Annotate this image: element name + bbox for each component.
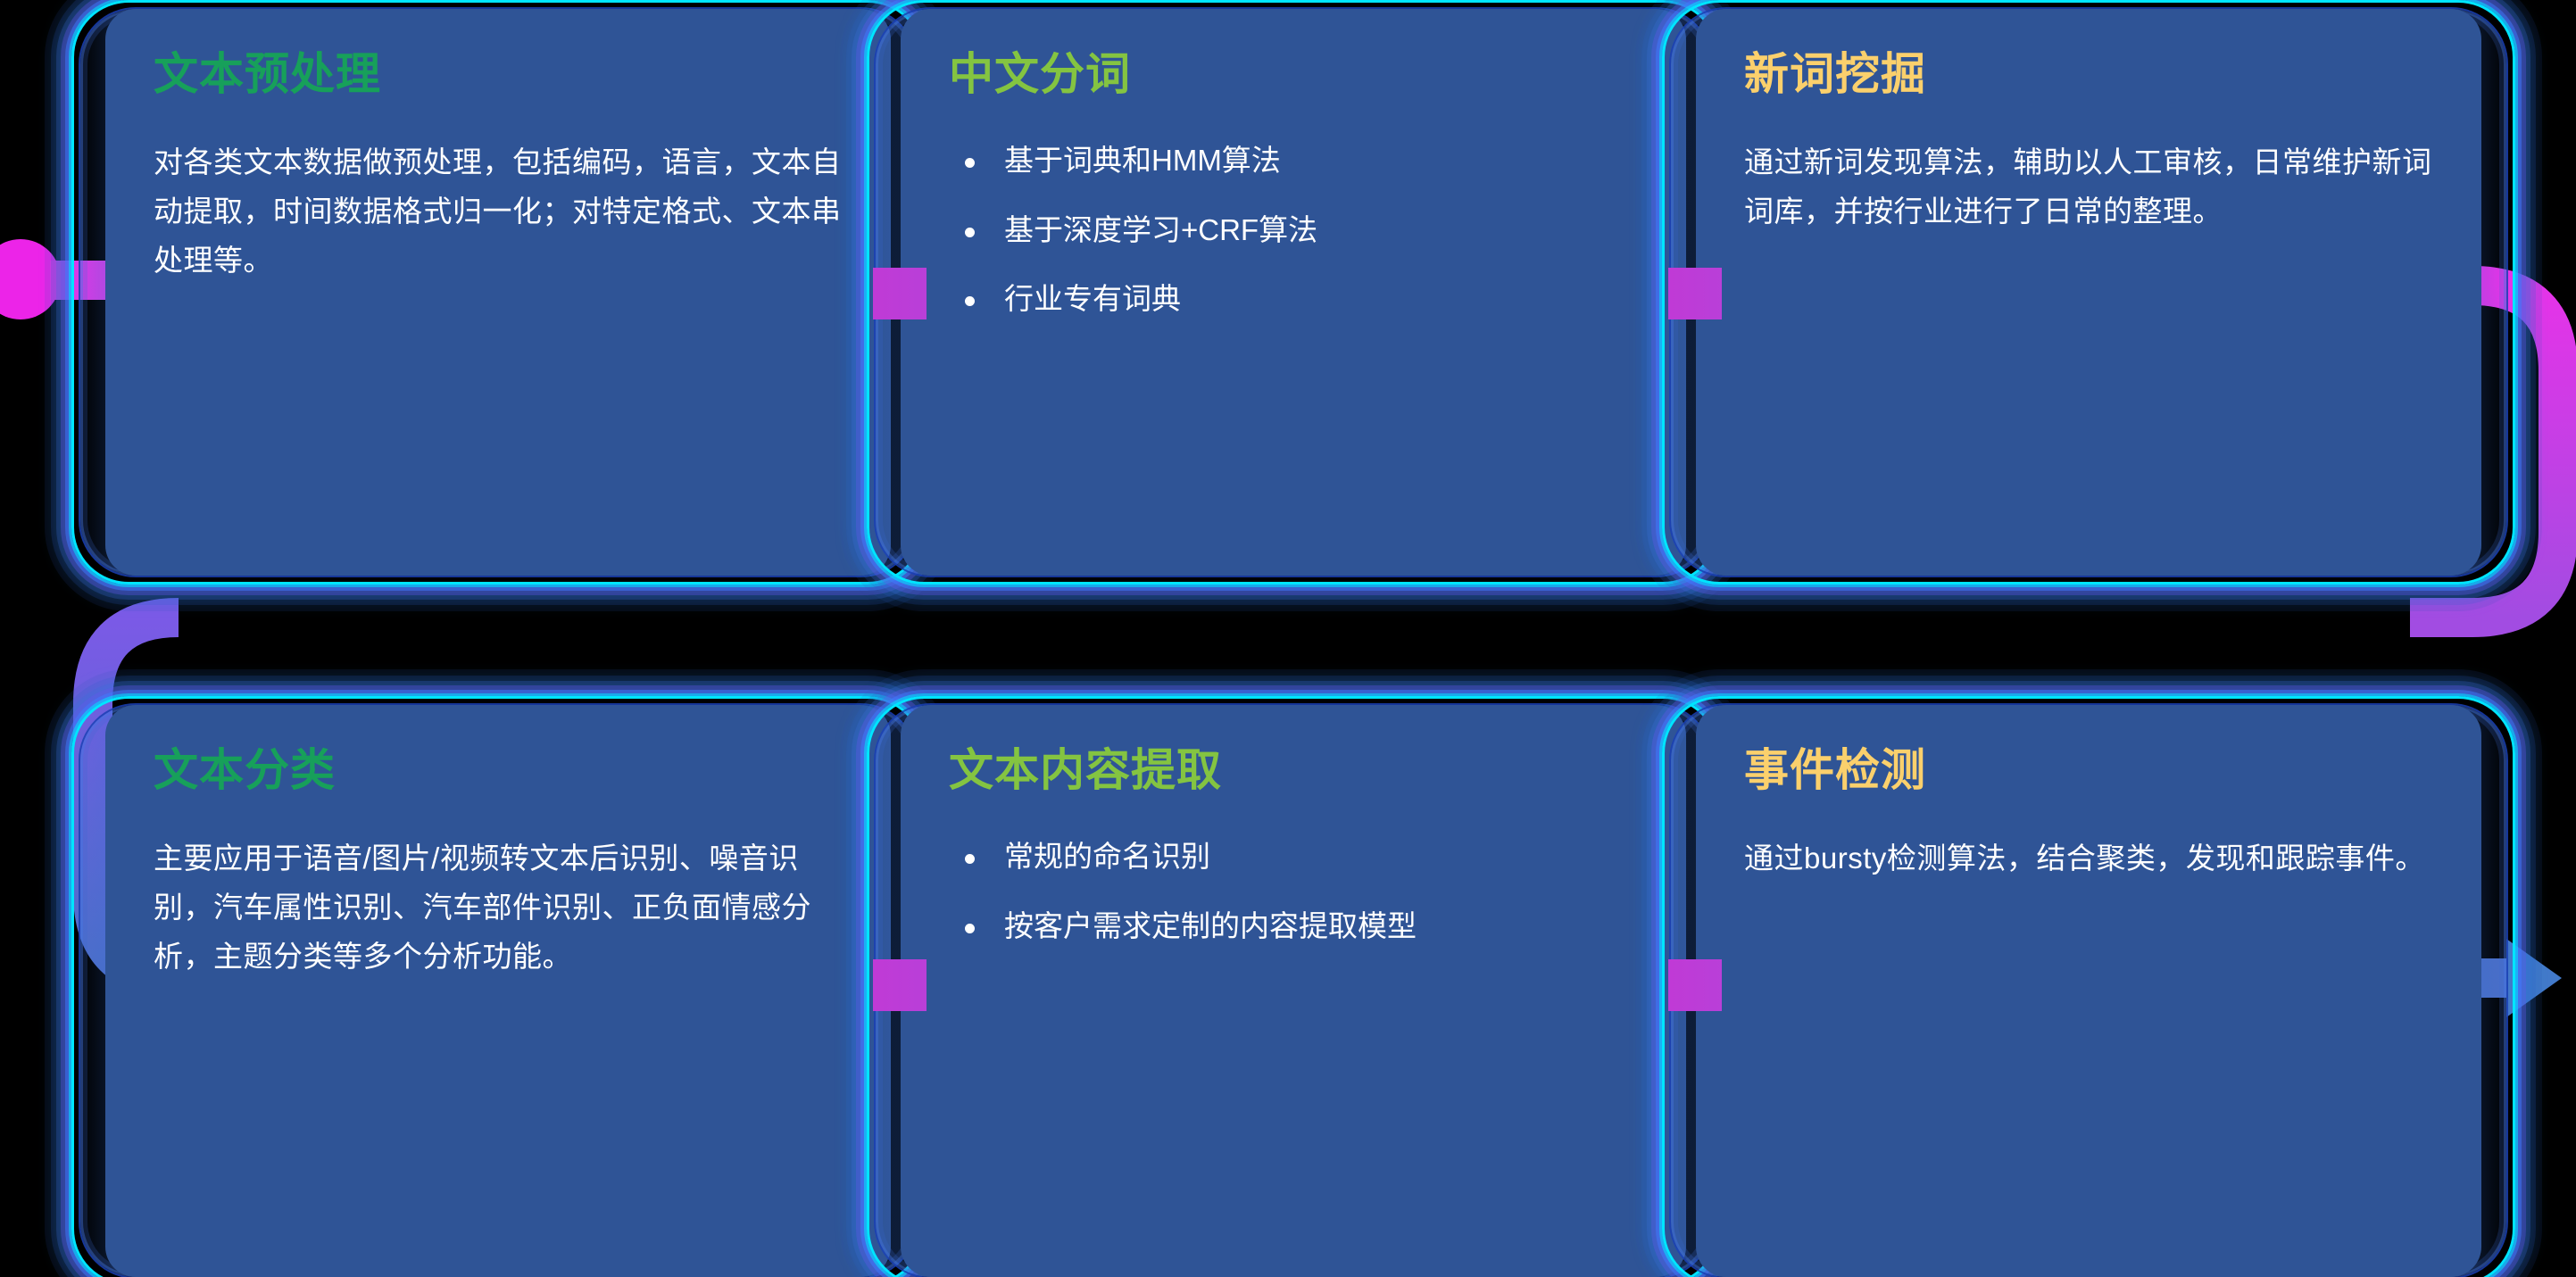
card-new-word-mining[interactable]: 新词挖掘 通过新词发现算法，辅助以人工审核，日常维护新词词库，并按行业进行了日常… [1696,9,2481,576]
card-title: 中文分词 [949,50,1638,99]
card-slot-1: 文本预处理 对各类文本数据做预处理，包括编码，语言，文本自动提取，时间数据格式归… [105,9,891,576]
list-item: 基于深度学习+CRF算法 [949,208,1638,253]
card-chinese-word-segmentation[interactable]: 中文分词 基于词典和HMM算法 基于深度学习+CRF算法 行业专有词典 [901,9,1686,576]
card-slot-3: 新词挖掘 通过新词发现算法，辅助以人工审核，日常维护新词词库，并按行业进行了日常… [1696,9,2481,576]
card-slot-4: 文本分类 主要应用于语音/图片/视频转文本后识别、噪音识别，汽车属性识别、汽车部… [105,705,891,1277]
connector-card5-card6 [1668,959,1722,1011]
card-text-preprocessing[interactable]: 文本预处理 对各类文本数据做预处理，包括编码，语言，文本自动提取，时间数据格式归… [105,9,891,576]
card-slot-5: 文本内容提取 常规的命名识别 按客户需求定制的内容提取模型 [901,705,1686,1277]
card-paragraph: 通过bursty检测算法，结合聚类，发现和跟踪事件。 [1744,834,2433,883]
card-title: 文本预处理 [154,50,843,99]
card-bullet-list: 基于词典和HMM算法 基于深度学习+CRF算法 行业专有词典 [949,138,1638,321]
card-title: 文本分类 [154,746,843,795]
card-slot-6: 事件检测 通过bursty检测算法，结合聚类，发现和跟踪事件。 [1696,705,2481,1277]
arrow-right-icon [2506,939,2562,1017]
card-row-top: 文本预处理 对各类文本数据做预处理，包括编码，语言，文本自动提取，时间数据格式归… [105,9,2481,576]
card-text-classification[interactable]: 文本分类 主要应用于语音/图片/视频转文本后识别、噪音识别，汽车属性识别、汽车部… [105,705,891,1277]
card-slot-2: 中文分词 基于词典和HMM算法 基于深度学习+CRF算法 行业专有词典 [901,9,1686,576]
connector-card2-card3 [1668,268,1722,319]
diagram-canvas: 文本预处理 对各类文本数据做预处理，包括编码，语言，文本自动提取，时间数据格式归… [0,0,2576,1277]
card-paragraph: 对各类文本数据做预处理，包括编码，语言，文本自动提取，时间数据格式归一化；对特定… [154,138,843,285]
card-title: 文本内容提取 [949,746,1638,795]
connector-card1-card2 [873,268,927,319]
list-item: 常规的命名识别 [949,834,1638,879]
card-text-content-extraction[interactable]: 文本内容提取 常规的命名识别 按客户需求定制的内容提取模型 [901,705,1686,1277]
card-paragraph: 通过新词发现算法，辅助以人工审核，日常维护新词词库，并按行业进行了日常的整理。 [1744,138,2433,236]
card-bullet-list: 常规的命名识别 按客户需求定制的内容提取模型 [949,834,1638,948]
card-title: 新词挖掘 [1744,50,2433,99]
card-title: 事件检测 [1744,746,2433,795]
card-event-detection[interactable]: 事件检测 通过bursty检测算法，结合聚类，发现和跟踪事件。 [1696,705,2481,1277]
card-row-bottom: 文本分类 主要应用于语音/图片/视频转文本后识别、噪音识别，汽车属性识别、汽车部… [105,705,2481,1277]
connector-card4-card5 [873,959,927,1011]
list-item: 按客户需求定制的内容提取模型 [949,904,1638,949]
list-item: 基于词典和HMM算法 [949,138,1638,183]
list-item: 行业专有词典 [949,277,1638,321]
card-paragraph: 主要应用于语音/图片/视频转文本后识别、噪音识别，汽车属性识别、汽车部件识别、正… [154,834,843,981]
